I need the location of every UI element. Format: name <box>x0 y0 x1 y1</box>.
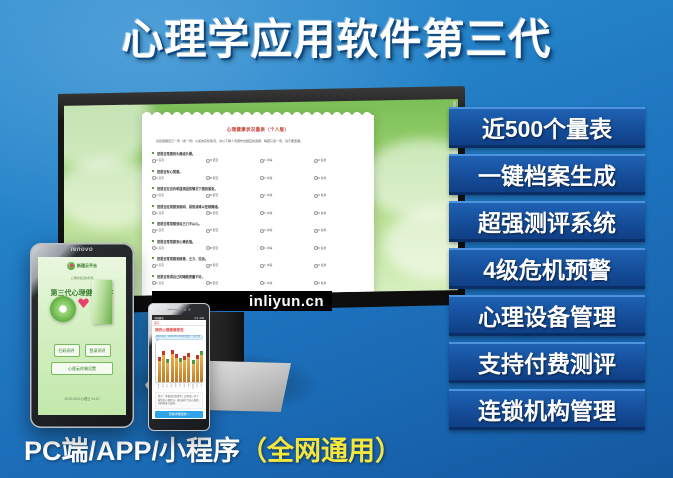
feature-label: 近500个量表 <box>482 110 612 144</box>
question-text: 您是否常常感到自己力不从心。 <box>152 221 368 226</box>
option-radio[interactable]: D 偏重 <box>314 281 368 285</box>
heart-leaf-icon <box>67 262 75 270</box>
option-radio[interactable]: C 中等 <box>260 228 314 232</box>
question-item: 您是否常常感到自己力不从心。A 没有B 很轻C 中等D 偏重 <box>152 221 368 232</box>
feature-list: 近500个量表 一键档案生成 超强测评系统 4级危机预警 心理设备管理 支持付费… <box>449 107 645 430</box>
chart-x-label: 强迫 <box>161 384 164 390</box>
option-radio[interactable]: B 很轻 <box>206 158 260 162</box>
chart-bar <box>179 362 182 382</box>
question-item: 您是否常感到头痛或头晕。A 没有B 很轻C 中等D 偏重 <box>152 151 368 162</box>
platform-caption-highlight: 全网通用 <box>267 436 375 466</box>
option-radio[interactable]: B 很轻 <box>206 281 260 285</box>
option-radio[interactable]: A 没有 <box>152 211 206 215</box>
feature-item-5[interactable]: 支持付费测评 <box>449 342 645 383</box>
back-button[interactable]: 返回 <box>154 321 159 325</box>
chart-bar-cap <box>200 351 203 355</box>
status-time: 下午 3:26 <box>194 316 204 320</box>
question-item: 您是否常常感到心情低落。A 没有B 很轻C 中等D 偏重 <box>152 239 368 250</box>
option-radio[interactable]: C 中等 <box>260 158 314 162</box>
option-radio[interactable]: C 中等 <box>260 193 314 197</box>
chart-bar-cap <box>175 354 178 358</box>
chart-bar-cap <box>179 358 182 362</box>
option-radio[interactable]: D 偏重 <box>314 176 368 180</box>
feature-item-6[interactable]: 连锁机构管理 <box>449 389 645 430</box>
chart-bar <box>158 361 161 382</box>
option-row: A 没有B 很轻C 中等D 偏重 <box>152 193 368 197</box>
poster-root: 心理学应用软件第三代 心理健康状况量表（个人版） 请您根据自己一周（含一周）以来… <box>0 0 673 478</box>
phone-earpiece <box>167 308 190 311</box>
chart-x-label: 恐怖 <box>183 384 186 390</box>
option-row: A 没有B 很轻C 中等D 偏重 <box>152 211 368 215</box>
option-radio[interactable]: C 中等 <box>260 176 314 180</box>
chart-x-labels: 躯体化强迫人际抑郁焦虑敌对恐怖偏执精神病其他总分 <box>157 384 203 390</box>
cloud-blob <box>384 209 458 279</box>
feature-item-3[interactable]: 4级危机预警 <box>449 248 645 289</box>
report-meta-bar: 测评时间：2021-05-18 测评类型：综合测评 <box>155 335 203 340</box>
option-radio[interactable]: A 没有 <box>152 193 206 197</box>
report-note: 提示：本报告仅供参考，如需进一步了解您的心理状况，建议前往专业心理咨询机构进行面… <box>155 392 203 409</box>
question-text: 您是否常常感到疲倦、乏力、没劲。 <box>152 256 368 261</box>
feature-item-0[interactable]: 近500个量表 <box>449 107 645 148</box>
option-radio[interactable]: D 偏重 <box>314 211 368 215</box>
questionnaire-title: 心理健康状况量表（个人版） <box>142 127 374 133</box>
chart-bar <box>183 360 186 382</box>
question-text: 您是否经常感到烦闷、易怒或难以控制情绪。 <box>152 204 368 209</box>
chart-bar-cap <box>162 351 165 355</box>
chart-x-label: 抑郁 <box>170 384 173 390</box>
option-radio[interactable]: D 偏重 <box>314 193 368 197</box>
tablet-app-logo-text: 新理云平台 <box>77 263 97 269</box>
question-item: 您是否在没有明显原因的情况下感到紧张。A 没有B 很轻C 中等D 偏重 <box>152 186 368 197</box>
chart-bar-cap <box>187 353 190 357</box>
chart-bar-cap <box>158 357 161 361</box>
chart-bar <box>162 355 165 382</box>
chart-bar <box>166 363 169 382</box>
feature-label: 连锁机构管理 <box>478 392 616 426</box>
chart-bar-cap <box>183 356 186 360</box>
option-radio[interactable]: B 很轻 <box>206 193 260 197</box>
tablet-app-header: 新理云平台 <box>38 262 126 270</box>
chart-x-label: 总分 <box>200 384 203 390</box>
feature-item-1[interactable]: 一键档案生成 <box>449 154 645 195</box>
scan-test-button[interactable]: 扫码测评 <box>54 344 80 357</box>
watermark-text: inliyun.cn <box>249 293 324 310</box>
option-radio[interactable]: C 中等 <box>260 281 314 285</box>
option-row: A 没有B 很轻C 中等D 偏重 <box>152 158 368 162</box>
chart-x-label: 偏执 <box>187 384 190 390</box>
option-radio[interactable]: A 没有 <box>152 246 206 250</box>
product-box-image: 心理健康自助检测 第三代心理健康软件 <box>44 274 120 330</box>
feature-label: 4级危机预警 <box>483 251 611 285</box>
heart-icon <box>78 298 89 308</box>
chart-x-label: 其他 <box>196 384 199 390</box>
option-radio[interactable]: B 很轻 <box>206 246 260 250</box>
option-radio[interactable]: A 没有 <box>152 176 206 180</box>
chart-x-label: 敌对 <box>178 384 181 390</box>
question-item: 您是否经常感到烦闷、易怒或难以控制情绪。A 没有B 很轻C 中等D 偏重 <box>152 204 368 215</box>
chart-x-label: 精神病 <box>191 384 194 390</box>
tablet-brand-logo: lenovo <box>30 247 134 253</box>
feature-label: 超强测评系统 <box>478 204 616 238</box>
more-menu-icon[interactable]: ··· <box>201 321 204 324</box>
option-row: A 没有B 很轻C 中等D 偏重 <box>152 263 368 267</box>
question-text: 您是否有心慌感。 <box>152 169 368 174</box>
chart-bar-cap <box>196 355 199 359</box>
question-item: 您是否觉得自己的睡眠质量不好。A 没有B 很轻C 中等D 偏重 <box>152 274 368 285</box>
phone-screen: 中国移动 下午 3:26 返回 ··· 我的心理健康报告 测评时间：2021-0… <box>152 315 206 419</box>
chart-x-label: 躯体化 <box>157 384 160 390</box>
option-radio[interactable]: D 偏重 <box>314 263 368 267</box>
option-radio[interactable]: C 中等 <box>260 246 314 250</box>
chart-bar <box>171 354 174 382</box>
tablet-device: lenovo 新理云平台 心理健康自助检测 第三代心理健康软件 扫码测评 登录测… <box>30 243 134 428</box>
questionnaire-intro: 请您根据自己一周（含一周）以来的实际情况，对以下每个问题作出相应的选择，每题只选… <box>156 139 361 144</box>
chart-bar <box>200 355 203 382</box>
option-radio[interactable]: A 没有 <box>152 263 206 267</box>
feature-label: 支持付费测评 <box>478 345 616 379</box>
view-report-button[interactable]: 查看详细报告 > <box>155 411 203 418</box>
option-radio[interactable]: D 偏重 <box>314 246 368 250</box>
option-radio[interactable]: D 偏重 <box>314 228 368 232</box>
phone-device: 中国移动 下午 3:26 返回 ··· 我的心理健康报告 测评时间：2021-0… <box>148 303 210 431</box>
question-text: 您是否在没有明显原因的情况下感到紧张。 <box>152 186 368 191</box>
chart-bar-cap <box>192 360 195 364</box>
cd-disc-icon <box>50 296 76 322</box>
paren-open: （ <box>240 436 267 466</box>
option-radio[interactable]: B 很轻 <box>206 228 260 232</box>
chart-bar <box>187 357 190 382</box>
report-bar-chart <box>155 343 203 383</box>
chart-bar <box>192 364 195 382</box>
page-title: 心理学应用软件第三代 <box>0 6 673 67</box>
login-test-button[interactable]: 登录测评 <box>85 344 111 357</box>
platform-caption-main: PC端/APP/小程序 <box>24 436 240 466</box>
software-box-icon <box>92 280 112 324</box>
option-radio[interactable]: A 没有 <box>152 228 206 232</box>
option-row: A 没有B 很轻C 中等D 偏重 <box>152 228 368 232</box>
option-row: A 没有B 很轻C 中等D 偏重 <box>152 176 368 180</box>
feature-label: 心理设备管理 <box>478 298 616 332</box>
question-text: 您是否觉得自己的睡眠质量不好。 <box>152 274 368 279</box>
tablet-screen: 新理云平台 心理健康自助检测 第三代心理健康软件 扫码测评 登录测评 心理云终端… <box>38 257 126 415</box>
option-radio[interactable]: B 很轻 <box>206 263 260 267</box>
question-text: 您是否常常感到心情低落。 <box>152 239 368 244</box>
option-row: A 没有B 很轻C 中等D 偏重 <box>152 246 368 250</box>
question-item: 您是否常常感到疲倦、乏力、没劲。A 没有B 很轻C 中等D 偏重 <box>152 256 368 267</box>
chart-bar-cap <box>166 359 169 363</box>
feature-label: 一键档案生成 <box>478 157 616 191</box>
questionnaire-paper: 心理健康状况量表（个人版） 请您根据自己一周（含一周）以来的实际情况，对以下每个… <box>142 115 374 297</box>
terminal-settings-button[interactable]: 心理云终端设置 <box>51 362 113 375</box>
chart-x-label: 人际 <box>166 384 169 390</box>
question-item: 您是否有心慌感。A 没有B 很轻C 中等D 偏重 <box>152 169 368 180</box>
question-list: 您是否常感到头痛或头晕。A 没有B 很轻C 中等D 偏重您是否有心慌感。A 没有… <box>152 151 368 297</box>
chart-bar <box>175 358 178 382</box>
question-text: 您是否常感到头痛或头晕。 <box>152 151 368 156</box>
option-radio[interactable]: B 很轻 <box>206 211 260 215</box>
option-radio[interactable]: C 中等 <box>260 211 314 215</box>
tablet-app-footer: 2019-2023 心理云 V3.10 <box>38 396 126 401</box>
cloud-blob <box>364 139 458 219</box>
tablet-button-row: 扫码测评 登录测评 <box>38 344 126 357</box>
chart-bar-cap <box>171 350 174 354</box>
platform-caption: PC端/APP/小程序（全网通用） <box>24 429 402 468</box>
option-row: A 没有B 很轻C 中等D 偏重 <box>152 281 368 285</box>
chart-bar <box>196 359 199 382</box>
chart-x-label: 焦虑 <box>174 384 177 390</box>
option-radio[interactable]: A 没有 <box>152 281 206 285</box>
status-carrier: 中国移动 <box>154 316 164 320</box>
paper-torn-edge <box>142 110 374 118</box>
feature-item-4[interactable]: 心理设备管理 <box>449 295 645 336</box>
option-radio[interactable]: C 中等 <box>260 263 314 267</box>
option-radio[interactable]: D 偏重 <box>314 158 368 162</box>
option-radio[interactable]: A 没有 <box>152 158 206 162</box>
paren-close: ） <box>375 436 402 466</box>
feature-item-2[interactable]: 超强测评系统 <box>449 201 645 242</box>
option-radio[interactable]: B 很轻 <box>206 176 260 180</box>
